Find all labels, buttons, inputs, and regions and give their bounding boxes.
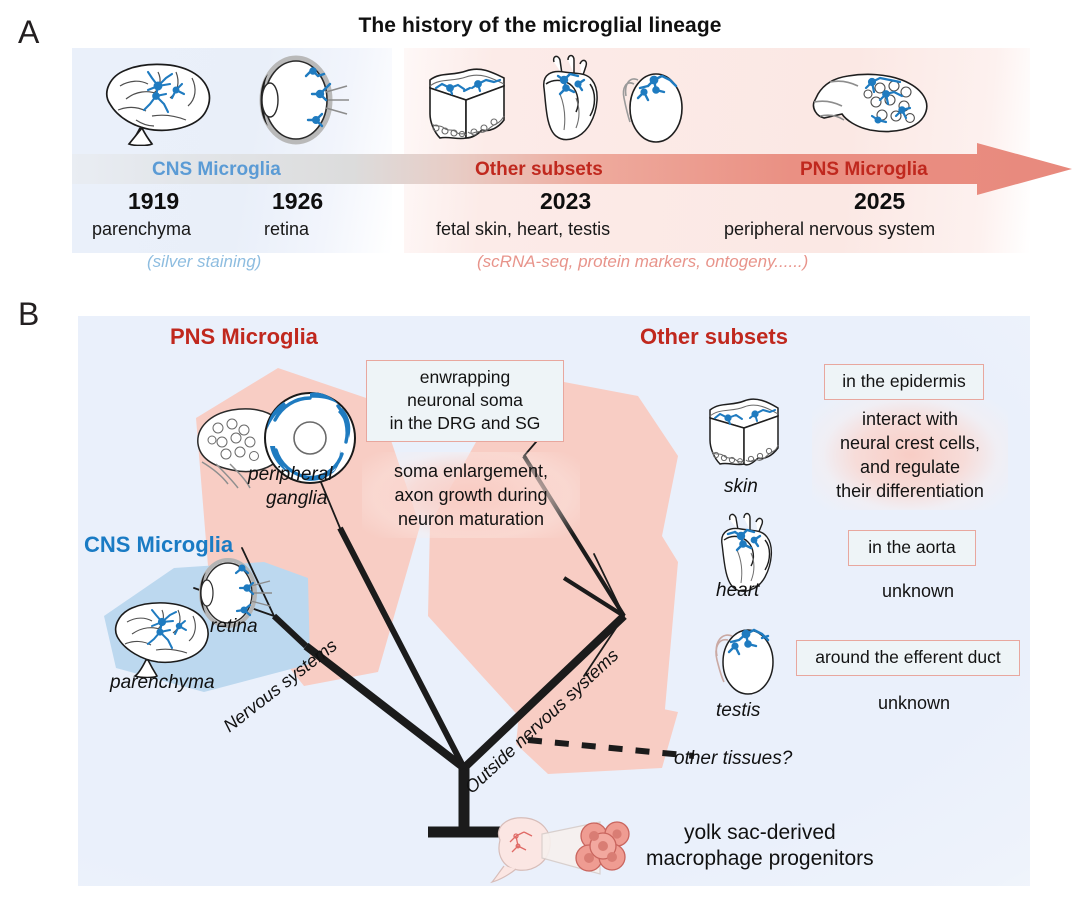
heart-icon [524,54,612,148]
panel-b-group-title-other: Other subsets [640,324,788,350]
panel-a-method-scrnaseq: (scRNA-seq, protein markers, ontogeny...… [477,252,808,272]
fact-line: unknown [854,691,974,715]
fact-line: axon growth during [378,483,564,507]
root-label-line2: macrophage progenitors [646,846,874,872]
other-tissues-label: other tissues? [674,748,792,770]
fact-line: unknown [858,579,978,603]
panel-a-tissue-retina: retina [264,219,309,240]
organ-label-peripheral-ganglia-line2: ganglia [266,488,327,510]
organ-label-heart: heart [716,580,759,602]
testis-icon [706,614,786,700]
fact-line: around the efferent duct [806,646,1010,669]
panel-a-year-2025: 2025 [854,188,905,215]
fact-line: in the DRG and SG [376,412,554,435]
fact-line: enwrapping [376,366,554,389]
panel-a-group-label-cns: CNS Microglia [152,159,281,181]
panel-a-title: The history of the microglial lineage [0,14,1080,38]
panel-a-group-label-other: Other subsets [475,159,603,181]
fact-line: interact with [828,407,992,431]
organ-label-testis: testis [716,700,760,722]
panel-b-letter: B [18,296,39,333]
figure-root: A The history of the microglial lineage [0,0,1080,897]
organ-label-parenchyma: parenchyma [110,672,215,694]
fact-line: neural crest cells, [828,431,992,455]
fact-glow-testis-function: unknown [838,684,990,722]
testis-icon [614,58,698,148]
panel-b-group-title-cns: CNS Microglia [84,532,233,558]
panel-a-tissue-pns: peripheral nervous system [724,219,935,240]
skin-cube-icon [418,58,514,148]
skin-cube-icon [700,390,786,472]
fact-line: in the epidermis [834,370,974,393]
fact-line: soma enlargement, [378,459,564,483]
fact-box-peripheral-ganglia-location: enwrapping neuronal soma in the DRG and … [366,360,564,442]
panel-a-group-label-pns: PNS Microglia [800,159,928,181]
panel-a-method-silver: (silver staining) [147,252,261,272]
panel-a-tissue-fetal: fetal skin, heart, testis [436,219,610,240]
fact-line: neuron maturation [378,507,564,531]
yolk-sac-progenitor-icon [490,812,640,884]
organ-label-skin: skin [724,476,758,498]
root-label: yolk sac-derived macrophage progenitors [646,820,874,873]
eye-icon [246,54,352,146]
brain-icon [106,596,218,678]
fact-box-testis-location: around the efferent duct [796,640,1020,676]
fact-box-skin-location: in the epidermis [824,364,984,400]
fact-line: neuronal soma [376,389,554,412]
peripheral-ganglia-icon [810,58,942,144]
root-label-line1: yolk sac-derived [646,820,874,846]
fact-box-heart-location: in the aorta [848,530,976,566]
panel-a-year-2023: 2023 [540,188,591,215]
organ-label-peripheral-ganglia-line1: peripheral [248,464,333,486]
fact-line: and regulate [828,455,992,479]
fact-glow-heart-function: unknown [842,572,994,610]
panel-b-group-title-pns: PNS Microglia [170,324,318,350]
fact-glow-skin-function: interact with neural crest cells, and re… [812,400,1008,510]
panel-a-year-1919: 1919 [128,188,179,215]
brain-icon [96,56,222,146]
panel-a-year-1926: 1926 [272,188,323,215]
fact-line: in the aorta [858,536,966,559]
fact-glow-peripheral-ganglia-function: soma enlargement, axon growth during neu… [362,452,580,538]
panel-a-tissue-parenchyma: parenchyma [92,219,191,240]
fact-line: their differentiation [828,479,992,503]
